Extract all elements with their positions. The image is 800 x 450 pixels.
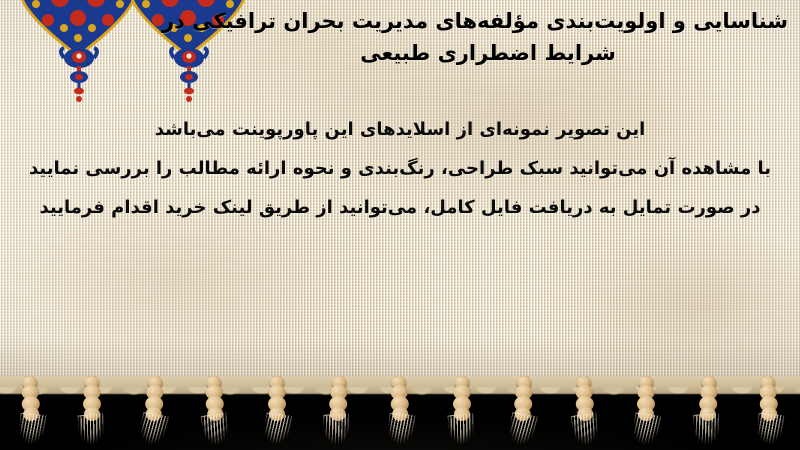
body-line-1: این تصویر نمونه‌ای از اسلایدهای این پاور… [0,110,800,149]
tassel [504,376,541,449]
slide-title: شناسایی و اولویت‌بندی مؤلفه‌های مدیریت ب… [188,6,788,69]
body-line-2: با مشاهده آن می‌توانید سبک طراحی، رنگ‌بن… [0,149,800,188]
tassel [381,376,418,449]
slide-body: این تصویر نمونه‌ای از اسلایدهای این پاور… [0,110,800,227]
tassel [629,376,663,448]
title-line-2: شرایط اضطراری طبیعی [188,38,788,69]
tassel [445,376,479,448]
carpet-fringe-band [0,376,800,450]
title-line-1: شناسایی و اولویت‌بندی مؤلفه‌های مدیریت ب… [188,6,788,37]
tassel [320,376,357,449]
tassel [135,376,172,449]
pendant-ornament-icon [56,46,102,108]
tassel [751,376,788,449]
tassel [75,376,109,448]
tassel [12,376,49,449]
tassel [197,376,234,449]
body-line-3: در صورت تمایل به دریافت فایل کامل، می‌تو… [0,188,800,227]
tassel [689,376,726,449]
tassel [260,376,294,448]
slide-canvas: شناسایی و اولویت‌بندی مؤلفه‌های مدیریت ب… [0,0,800,450]
tassel [566,376,603,449]
